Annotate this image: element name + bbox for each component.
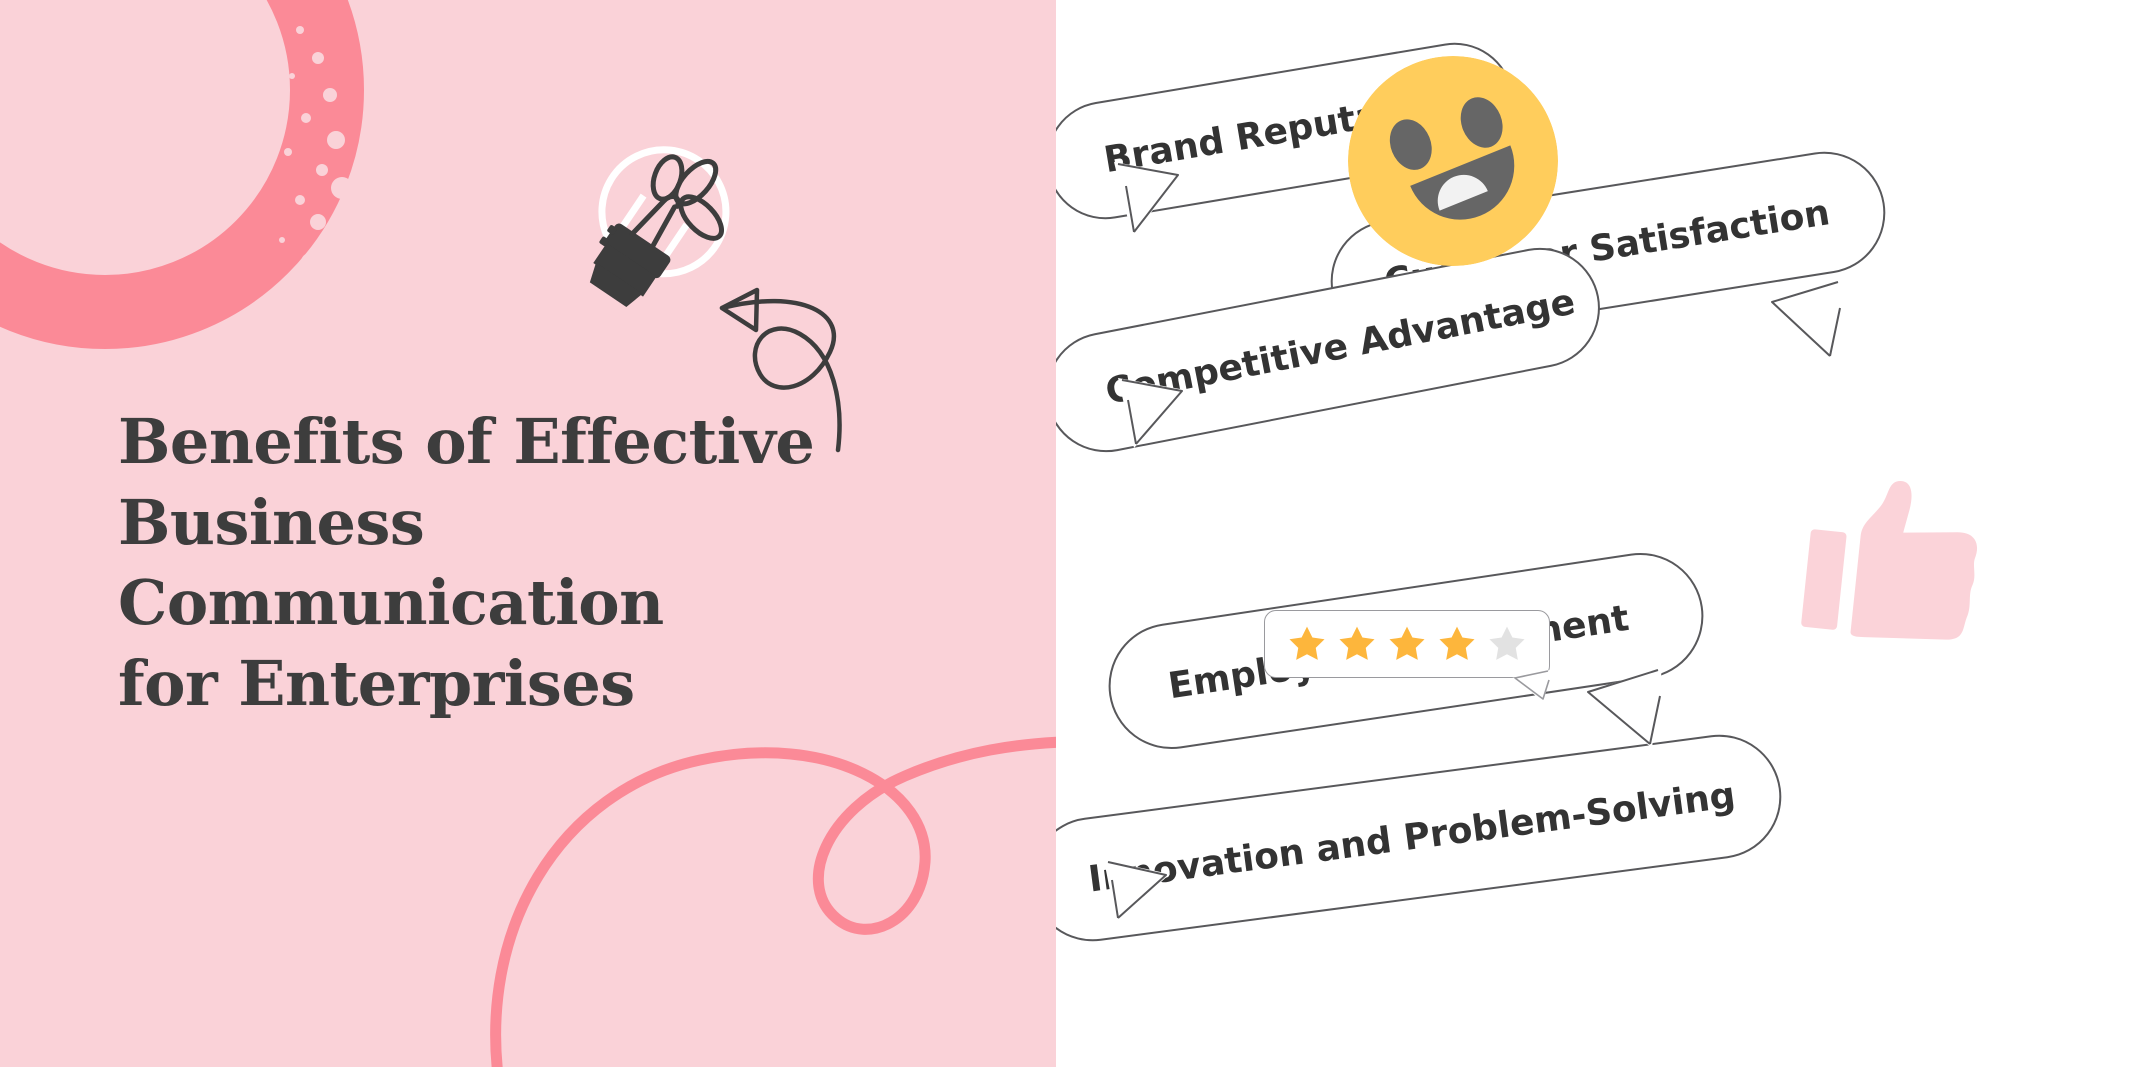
bubble-tail-innovation-problem-solving [1104,860,1214,970]
pink-ring-arc [0,0,327,312]
star-icon-5[interactable] [1485,622,1529,666]
coral-swirl-line [496,742,1056,1067]
lightbulb-icon [557,119,755,329]
thumbs-up-icon [1796,478,1996,648]
title-line-3: for Enterprises [118,647,635,720]
infographic-canvas: Benefits of Effective Business Communica… [0,0,2134,1067]
star-icon-3[interactable] [1385,622,1429,666]
star-rating-tail [1506,668,1576,728]
star-icon-1[interactable] [1285,622,1329,666]
bubble-tail-employee-engagement [1564,664,1694,784]
bubble-tail-customer-satisfaction [1746,278,1876,398]
title-line-2: Business Communication [118,486,664,640]
title-line-1: Benefits of Effective [118,405,814,478]
star-icon-4[interactable] [1435,622,1479,666]
right-white-panel: Brand Reputation Customer Satisfaction C… [1056,0,2134,1067]
bubble-tail-brand-reputation [1114,162,1224,272]
left-pink-panel: Benefits of Effective Business Communica… [0,0,1056,1067]
bubble-tail-competitive-advantage [1118,378,1228,488]
star-icon-2[interactable] [1335,622,1379,666]
page-title: Benefits of Effective Business Communica… [118,402,968,724]
smiley-face-icon [1348,56,1558,266]
